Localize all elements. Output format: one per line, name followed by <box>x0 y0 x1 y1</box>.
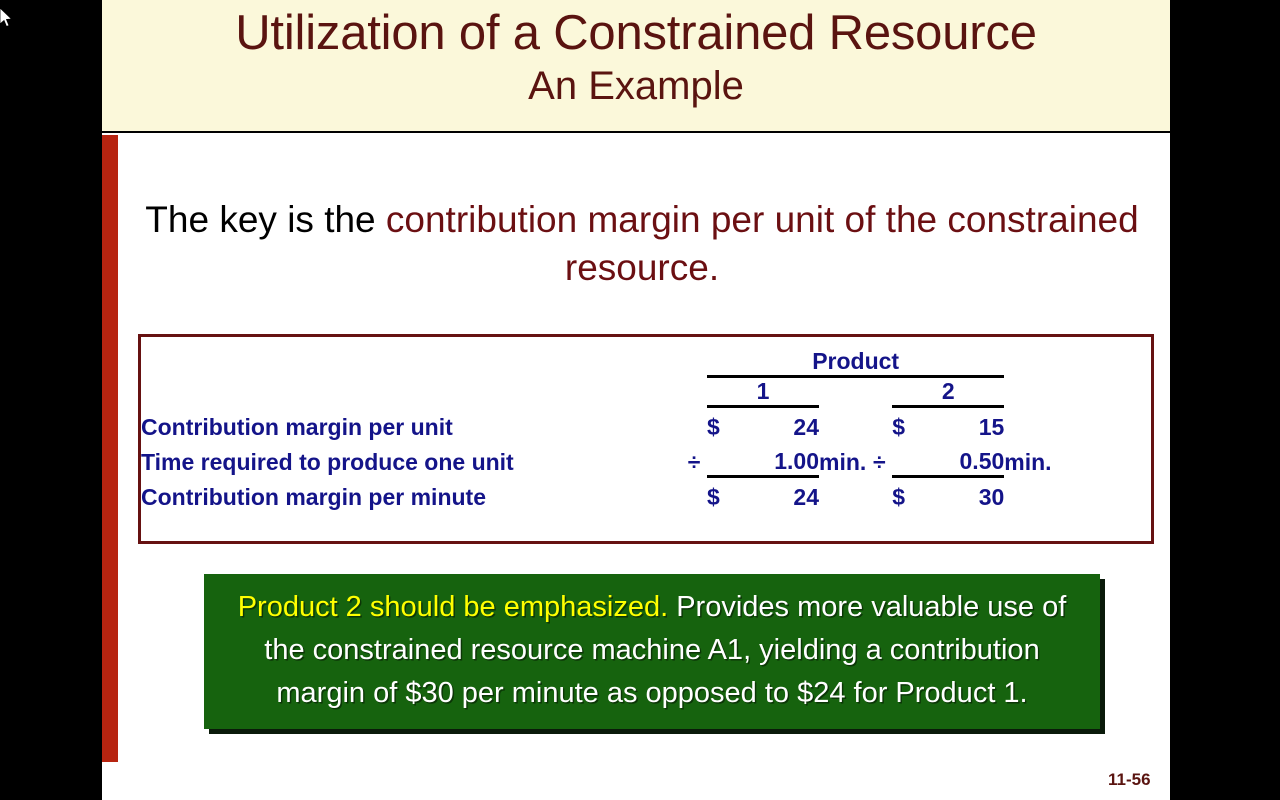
cell-value-p2: 15 <box>926 406 1004 441</box>
conclusion-emphasis: Product 2 should be emphasized. <box>238 591 668 623</box>
row-operator <box>681 476 707 511</box>
row-operator-divide-p2: ÷ <box>866 441 892 476</box>
cell-value-p1: 24 <box>741 476 819 511</box>
table-group-header: Product <box>707 341 1004 376</box>
cell-currency-p1: $ <box>707 406 741 441</box>
accent-bar <box>102 135 118 762</box>
cell-unit-p1: min. <box>819 441 866 476</box>
row-operator-divide-p1: ÷ <box>681 441 707 476</box>
page-title: Utilization of a Constrained Resource <box>235 4 1037 62</box>
cell-currency-p2: $ <box>892 476 926 511</box>
cell-value-p2: 0.50 <box>926 441 1004 476</box>
row-label-time-required: Time required to produce one unit <box>141 441 681 476</box>
page-subtitle: An Example <box>528 62 744 110</box>
cell-currency-p2: $ <box>892 406 926 441</box>
mouse-pointer-icon <box>0 8 14 30</box>
contribution-margin-table: Product 1 2 C <box>141 341 1062 511</box>
cell-currency-p2 <box>892 441 926 476</box>
cell-value-p2: 30 <box>926 476 1004 511</box>
row-label-contribution-margin-per-minute: Contribution margin per minute <box>141 476 681 511</box>
table-row: Contribution margin per minute $ 24 $ 30 <box>141 476 1062 511</box>
slide-canvas: Utilization of a Constrained Resource An… <box>102 0 1170 800</box>
screen: Utilization of a Constrained Resource An… <box>0 0 1280 800</box>
row-label-contribution-margin-per-unit: Contribution margin per unit <box>141 406 681 441</box>
key-statement: The key is the contribution margin per u… <box>142 196 1142 292</box>
key-statement-highlight: contribution margin per unit of the cons… <box>386 199 1139 288</box>
key-statement-prefix: The key is the <box>145 199 386 240</box>
cell-value-p1: 24 <box>741 406 819 441</box>
table-col-header-product-2: 2 <box>892 376 1004 406</box>
page-number: 11-56 <box>1108 770 1151 790</box>
cell-currency-p1 <box>707 441 741 476</box>
cell-value-p1: 1.00 <box>741 441 819 476</box>
table-row: Contribution margin per unit $ 24 $ 15 <box>141 406 1062 441</box>
table-row: Time required to produce one unit ÷ 1.00… <box>141 441 1062 476</box>
data-table-box: Product 1 2 C <box>138 334 1154 544</box>
slide-title-band: Utilization of a Constrained Resource An… <box>102 0 1170 133</box>
table-column-header-row: 1 2 <box>141 376 1062 406</box>
row-operator <box>681 406 707 441</box>
table-group-header-row: Product <box>141 341 1062 376</box>
cell-currency-p1: $ <box>707 476 741 511</box>
conclusion-box: Product 2 should be emphasized. Provides… <box>204 574 1100 729</box>
cell-unit-p2: min. <box>1004 441 1062 476</box>
table-col-header-product-1: 1 <box>707 376 819 406</box>
